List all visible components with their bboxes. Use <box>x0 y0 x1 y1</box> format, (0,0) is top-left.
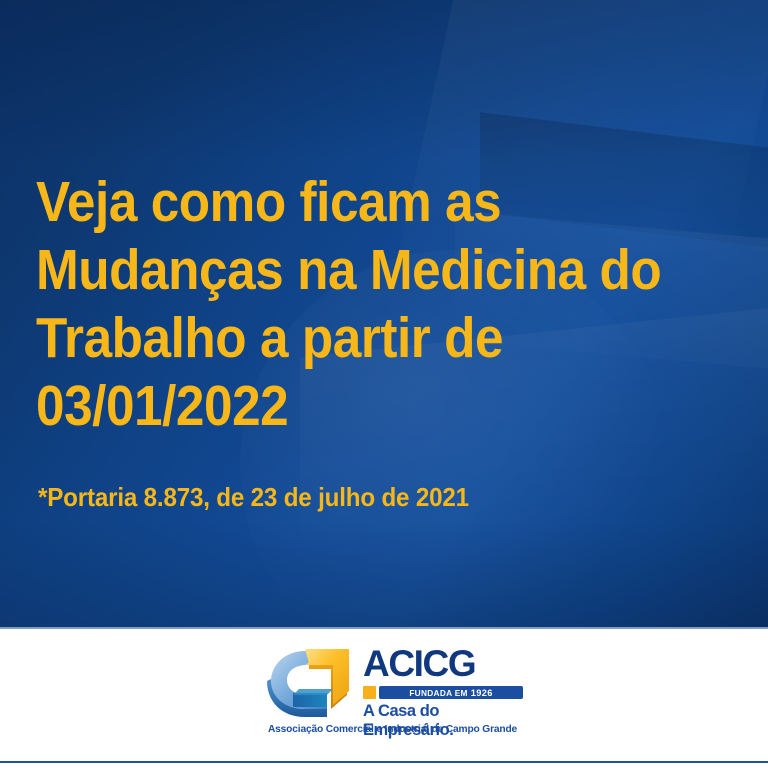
founded-badge: FUNDADA EM 1926 <box>379 686 523 699</box>
brand-tagline: A Casa do Empresário. <box>363 702 523 740</box>
hero-panel: Veja como ficam as Mudanças na Medicina … <box>0 0 768 627</box>
footer-top-divider <box>0 627 768 629</box>
acicg-logo[interactable]: ACICG FUNDADA EM 1926 A Casa do Empresár… <box>265 645 520 745</box>
brand-wordmark: ACICG <box>363 645 523 683</box>
acicg-interlocking-mark-icon <box>265 645 361 721</box>
background-top-shade <box>0 0 768 160</box>
founded-year: 1926 <box>471 688 493 698</box>
footer-bottom-divider <box>0 761 768 763</box>
founded-row: FUNDADA EM 1926 <box>363 686 523 699</box>
logo-primary-row: ACICG FUNDADA EM 1926 A Casa do Empresár… <box>265 645 520 717</box>
poster-canvas: Veja como ficam as Mudanças na Medicina … <box>0 0 768 768</box>
founded-label: FUNDADA EM <box>409 688 467 698</box>
subheadline-text: *Portaria 8.873, de 23 de julho de 2021 <box>38 482 469 513</box>
background-bottom-shade <box>0 520 768 627</box>
headline-text: Veja como ficam as Mudanças na Medicina … <box>36 168 675 440</box>
logo-text-column: ACICG FUNDADA EM 1926 A Casa do Empresár… <box>363 645 523 740</box>
founded-gold-square <box>363 686 376 699</box>
